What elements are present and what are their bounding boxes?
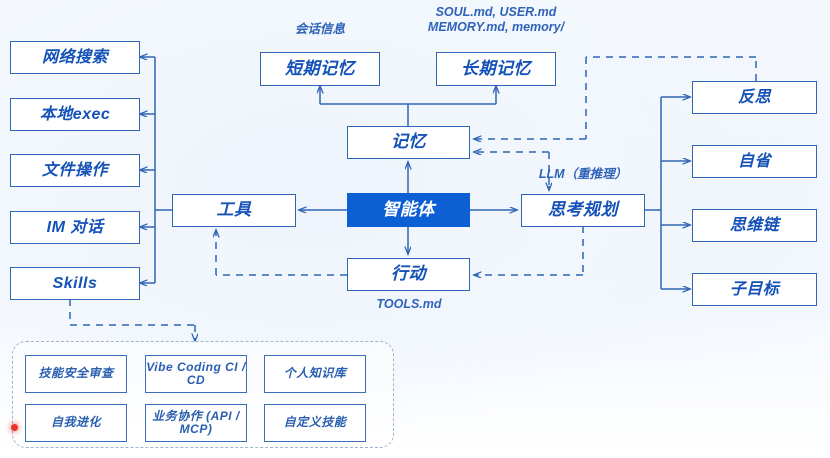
memory-node-long-term[interactable]: 长期记忆 bbox=[436, 52, 556, 86]
core-node-action[interactable]: 行动 bbox=[347, 258, 470, 291]
tool-node-file-ops[interactable]: 文件操作 bbox=[10, 154, 140, 187]
skill-node-custom-skill[interactable]: 自定义技能 bbox=[264, 404, 366, 442]
diagram-canvas: 网络搜索 本地exec 文件操作 IM 对话 Skills 工具 智能体 记忆 … bbox=[0, 0, 830, 458]
thinking-node-subgoal[interactable]: 子目标 bbox=[692, 273, 817, 306]
skill-node-vibe-coding[interactable]: Vibe Coding CI / CD bbox=[145, 355, 247, 393]
thinking-node-chain-of-thought[interactable]: 思维链 bbox=[692, 209, 817, 242]
tool-node-skills[interactable]: Skills bbox=[10, 267, 140, 300]
thinking-node-introspection[interactable]: 自省 bbox=[692, 145, 817, 178]
tool-node-local-exec[interactable]: 本地exec bbox=[10, 98, 140, 131]
memory-node-short-term[interactable]: 短期记忆 bbox=[260, 52, 380, 86]
core-node-agent[interactable]: 智能体 bbox=[347, 193, 470, 227]
caption-tools-md: TOOLS.md bbox=[348, 297, 470, 312]
thinking-node-reflection[interactable]: 反思 bbox=[692, 81, 817, 114]
tool-node-im-chat[interactable]: IM 对话 bbox=[10, 211, 140, 244]
skill-node-business-collaboration[interactable]: 业务协作 (API / MCP) bbox=[145, 404, 247, 442]
core-node-tools[interactable]: 工具 bbox=[172, 194, 296, 227]
skill-node-security-review[interactable]: 技能安全审查 bbox=[25, 355, 127, 393]
skill-node-self-evolution[interactable]: 自我进化 bbox=[25, 404, 127, 442]
caption-llm: LLM（重推理） bbox=[513, 167, 653, 182]
core-node-memory[interactable]: 记忆 bbox=[347, 126, 470, 159]
status-dot bbox=[11, 424, 18, 431]
caption-short-term-memory: 会话信息 bbox=[270, 22, 370, 37]
skill-node-personal-knowledge-base[interactable]: 个人知识库 bbox=[264, 355, 366, 393]
tool-node-web-search[interactable]: 网络搜索 bbox=[10, 41, 140, 74]
caption-long-term-memory: SOUL.md, USER.md MEMORY.md, memory/ bbox=[406, 5, 586, 35]
core-node-thinking[interactable]: 思考规划 bbox=[521, 194, 645, 227]
